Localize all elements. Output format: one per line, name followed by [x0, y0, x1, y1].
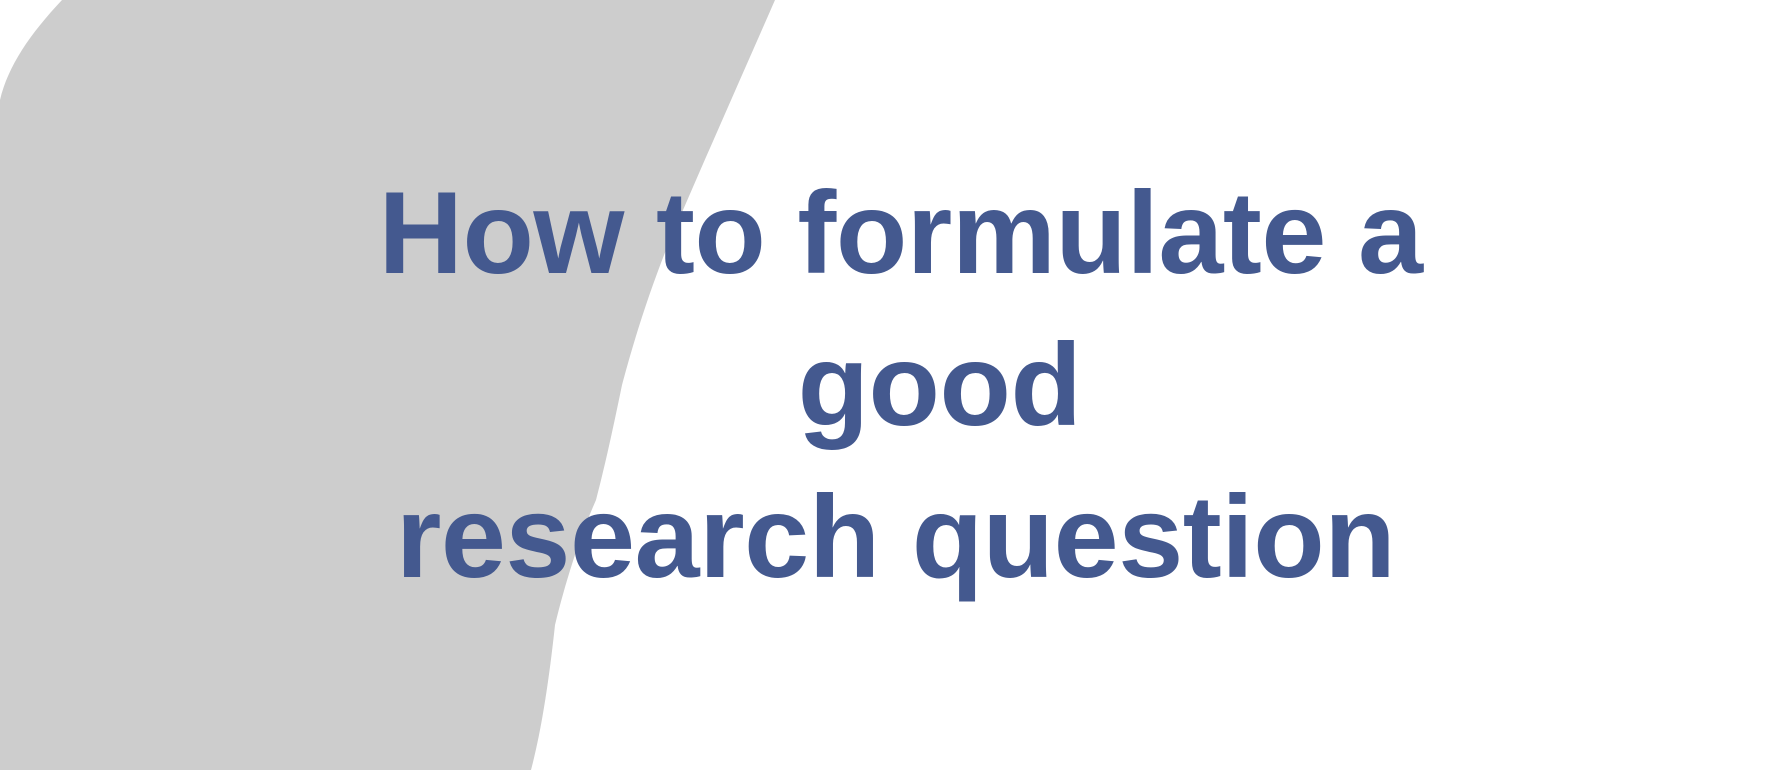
background-shape-layer — [0, 0, 1791, 770]
gray-curved-shape — [0, 0, 775, 770]
slide-canvas: How to formulate a good research questio… — [0, 0, 1791, 770]
